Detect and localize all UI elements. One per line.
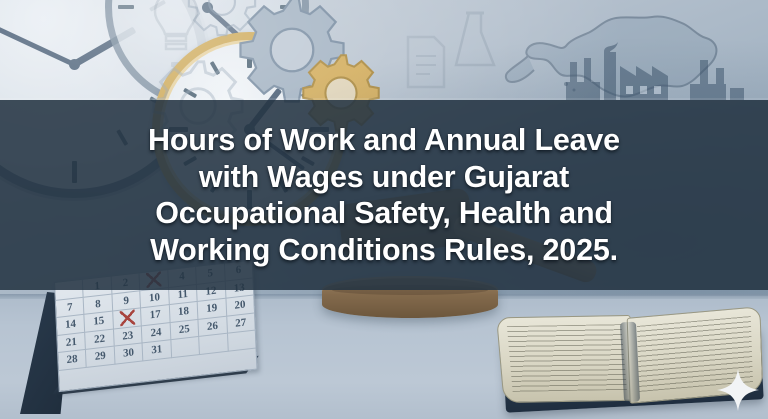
book-page-left <box>496 315 638 403</box>
desk-calendar: 1234567891011121314151617181920212223242… <box>18 282 254 414</box>
banner-top-highlight <box>0 98 768 100</box>
calendar-day: 30 <box>115 343 144 364</box>
banner-image: 1234567891011121314151617181920212223242… <box>0 0 768 419</box>
book-text-lines <box>507 324 627 392</box>
calendar-day: 31 <box>143 340 172 361</box>
calendar-day <box>228 331 256 352</box>
calendar-day: 28 <box>58 350 87 371</box>
sparkle-icon <box>716 368 760 412</box>
calendar-day <box>199 334 228 355</box>
title-banner: Hours of Work and Annual Leave with Wage… <box>0 100 768 290</box>
page-title: Hours of Work and Annual Leave with Wage… <box>126 122 642 268</box>
calendar-day: 29 <box>86 347 115 368</box>
calendar-day <box>171 337 200 358</box>
